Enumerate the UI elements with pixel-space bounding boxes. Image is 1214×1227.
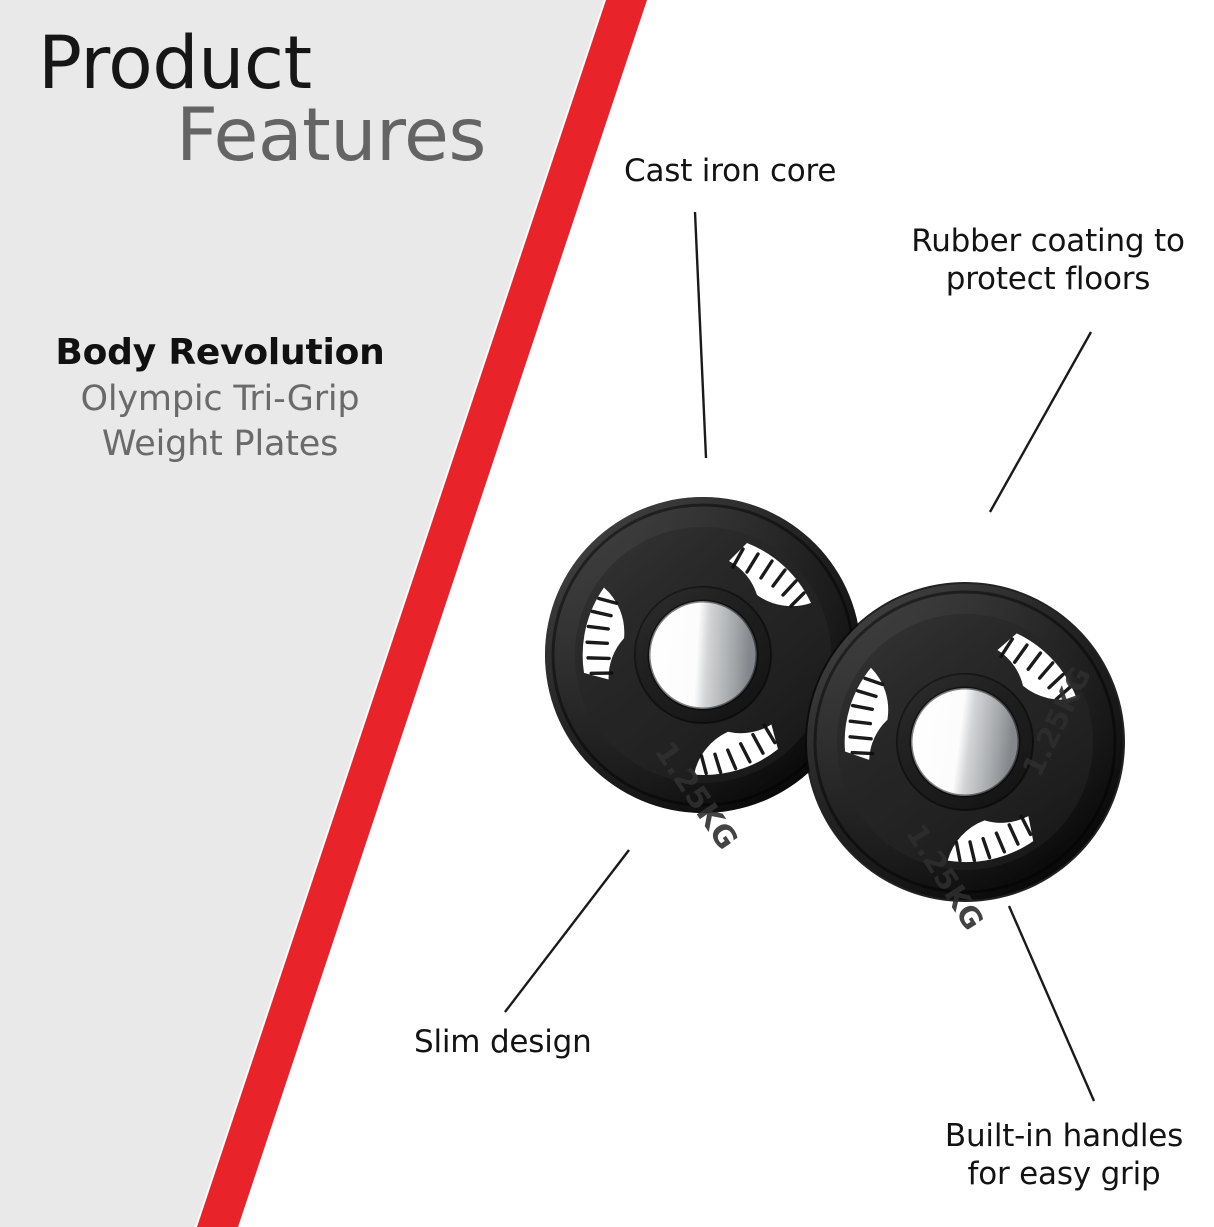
callout-label-slim-design: Slim design xyxy=(414,1024,592,1062)
product-name-block: Body Revolution Olympic Tri-Grip Weight … xyxy=(0,330,440,468)
product-subtitle-line-1: Olympic Tri-Grip xyxy=(0,377,440,423)
product-brand-name: Body Revolution xyxy=(0,330,440,377)
title-line-product: Product xyxy=(38,28,538,100)
callout-label-rubber-coating: Rubber coating to protect floors xyxy=(894,223,1202,299)
product-features-infographic: Product Features Body Revolution Olympic… xyxy=(0,0,1214,1227)
product-subtitle-line-2: Weight Plates xyxy=(0,422,440,468)
callout-label-built-in-handles: Built-in handles for easy grip xyxy=(920,1118,1208,1194)
page-title: Product Features xyxy=(38,28,538,171)
weight-plates-illustration: 1.25KG 1.25KG 1.25KG xyxy=(480,400,1180,960)
title-line-features: Features xyxy=(38,100,538,172)
callout-label-cast-iron-core: Cast iron core xyxy=(624,153,836,191)
